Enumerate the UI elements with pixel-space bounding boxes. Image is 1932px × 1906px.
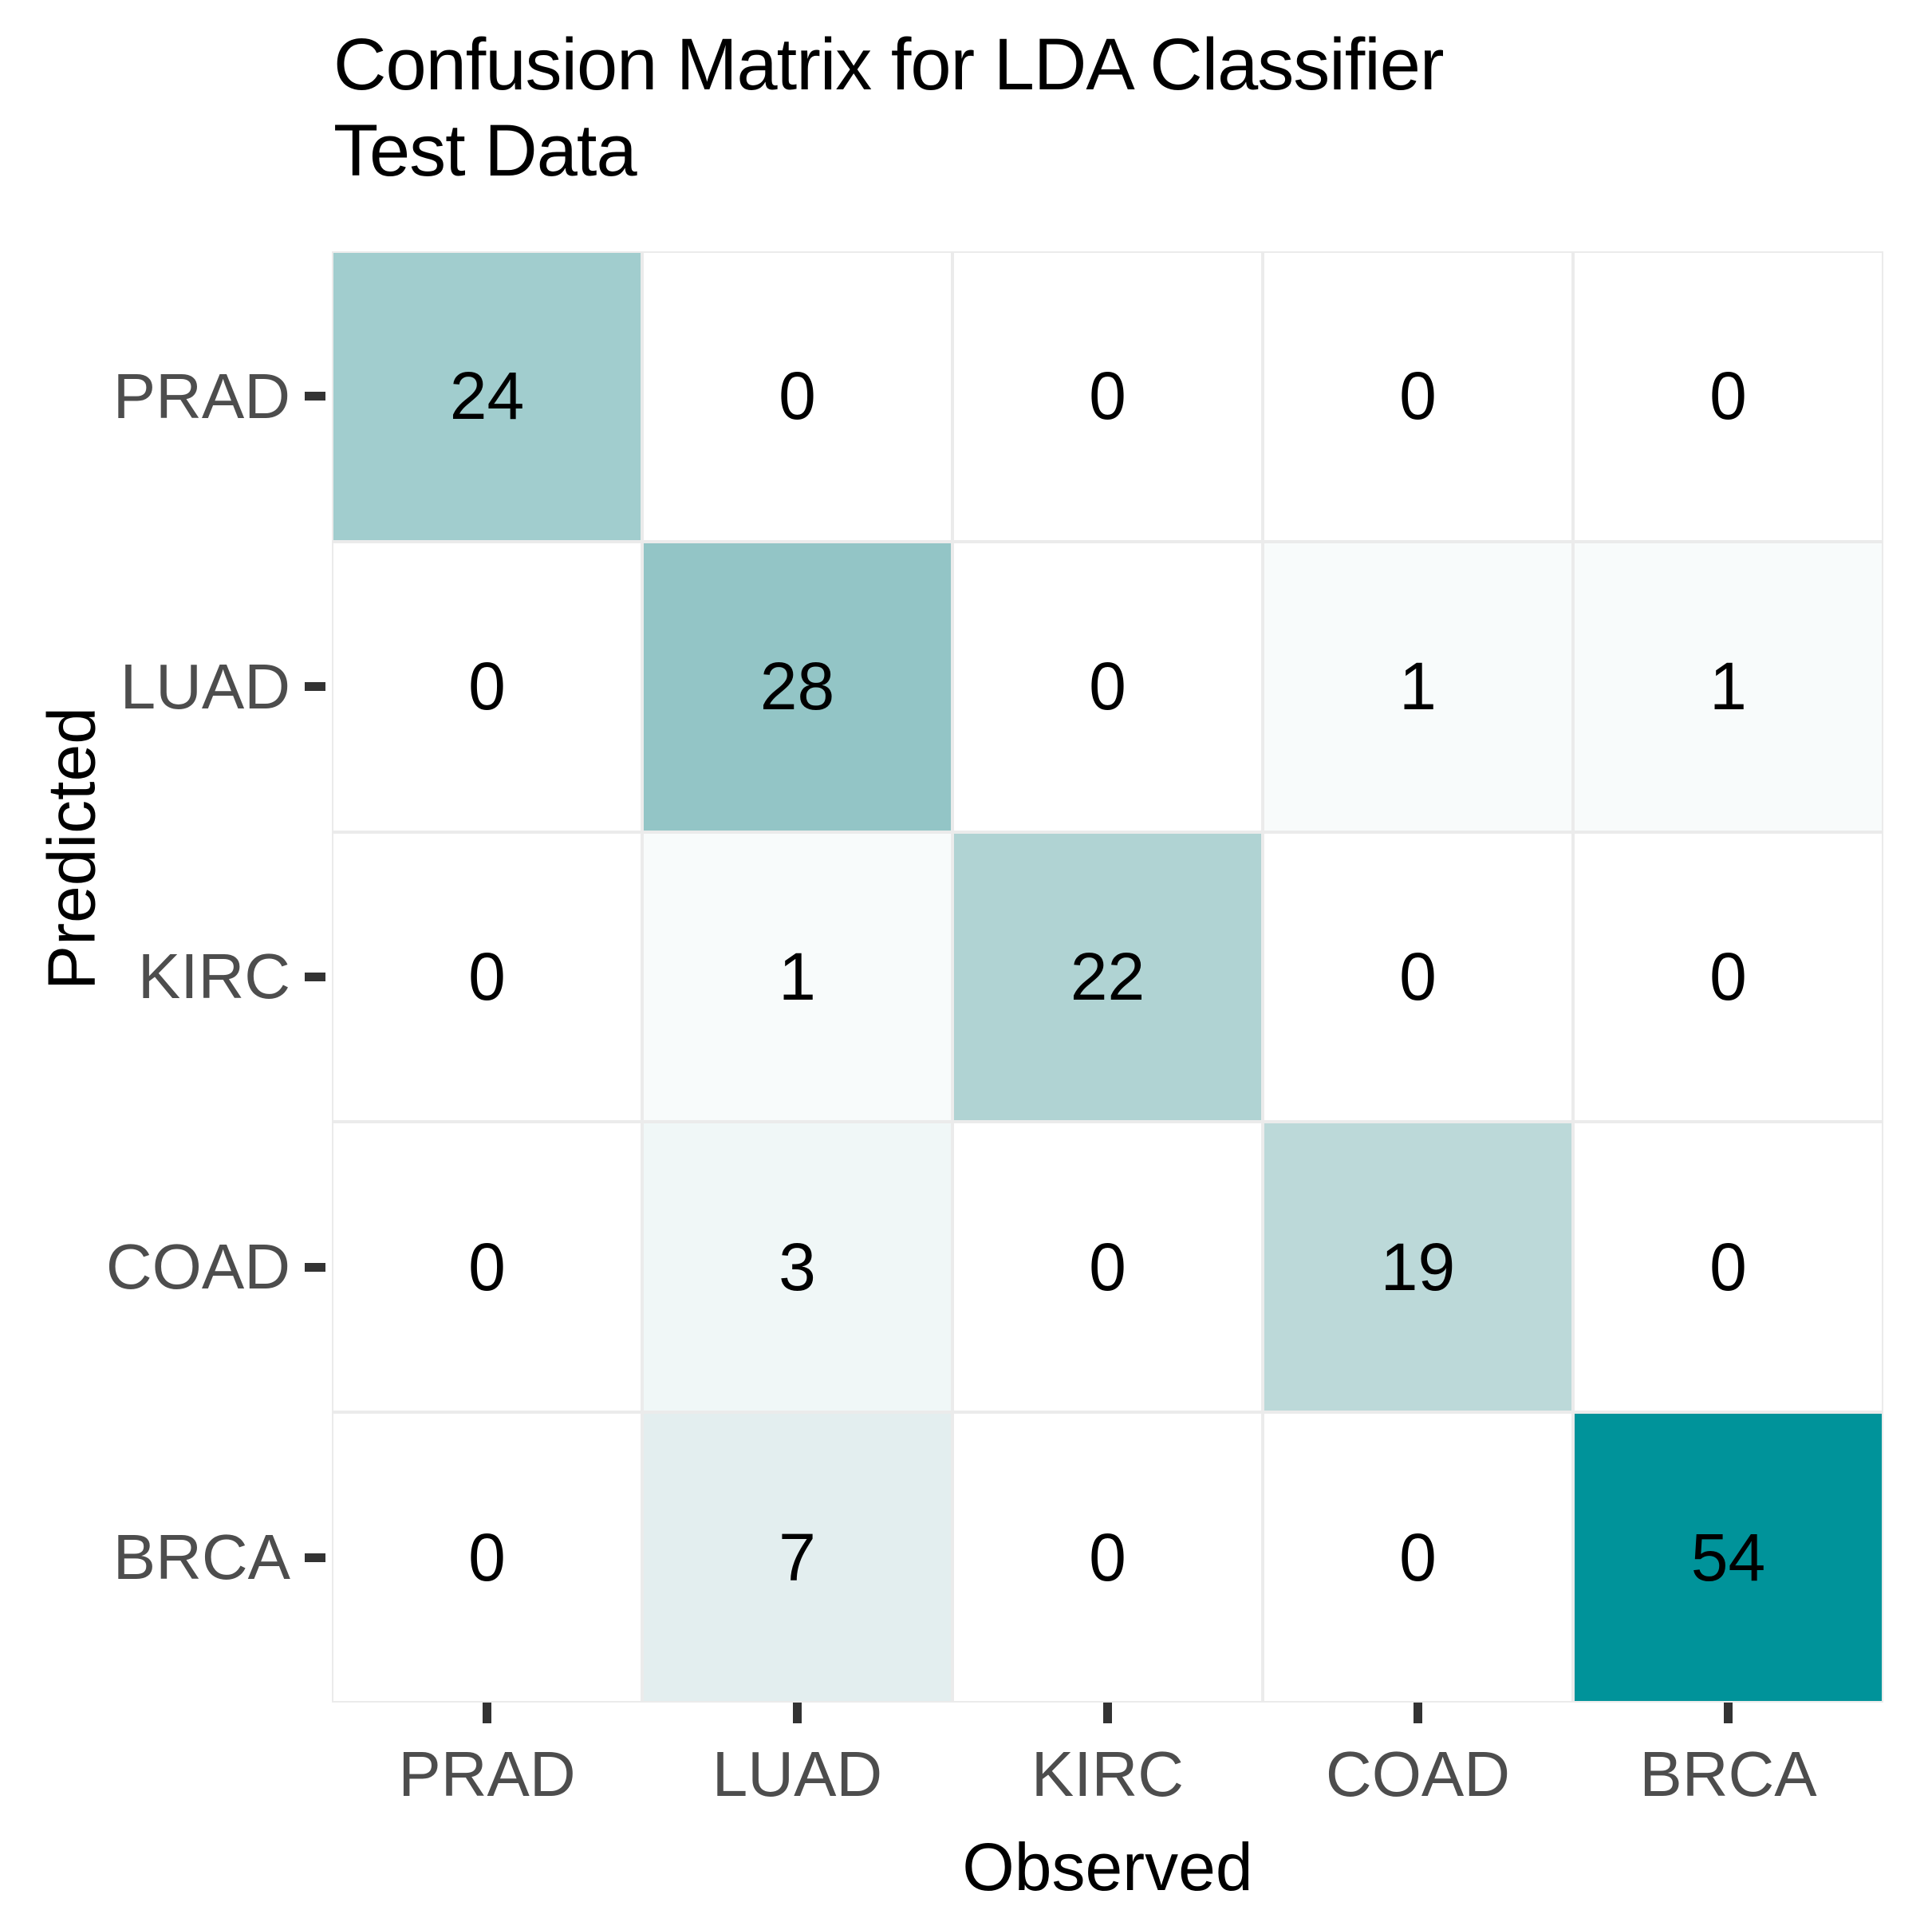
matrix-cell-value: 1 xyxy=(1399,648,1437,725)
matrix-cell-value: 0 xyxy=(1709,357,1747,435)
matrix-cell: 0 xyxy=(1573,832,1883,1123)
matrix-cell: 0 xyxy=(1263,251,1573,542)
matrix-cell: 0 xyxy=(332,832,642,1123)
matrix-cell: 0 xyxy=(952,1412,1263,1703)
y-axis-tick-label: KIRC xyxy=(138,940,290,1013)
confusion-matrix-plot: Confusion Matrix for LDA Classifier Test… xyxy=(0,0,1932,1901)
x-axis-tick-mark xyxy=(1103,1703,1112,1723)
matrix-cell-value: 0 xyxy=(1399,357,1437,435)
y-axis-tick-label: COAD xyxy=(106,1230,290,1304)
x-axis-tick-mark xyxy=(1724,1703,1733,1723)
matrix-cell: 3 xyxy=(642,1122,952,1412)
matrix-cell: 0 xyxy=(952,251,1263,542)
x-axis-tick-brca: BRCA xyxy=(1573,1703,1883,1811)
matrix-cell: 54 xyxy=(1573,1412,1883,1703)
x-axis-tick-label: KIRC xyxy=(1031,1738,1184,1811)
x-axis-title: Observed xyxy=(332,1829,1883,1906)
matrix-cell-value: 24 xyxy=(450,357,524,435)
y-axis-tick-mark xyxy=(305,1553,325,1562)
matrix-cell: 0 xyxy=(1263,1412,1573,1703)
y-axis-tick-label: PRAD xyxy=(113,360,290,433)
matrix-cell-value: 0 xyxy=(1399,938,1437,1016)
y-axis-tick-brca: BRCA xyxy=(0,1412,332,1703)
x-axis-tick-mark xyxy=(1414,1703,1422,1723)
x-axis-tick-label: COAD xyxy=(1326,1738,1510,1811)
chart-title: Confusion Matrix for LDA Classifier Test… xyxy=(333,22,1849,194)
matrix-cell: 19 xyxy=(1263,1122,1573,1412)
x-axis-tick-mark xyxy=(793,1703,802,1723)
matrix-cell: 0 xyxy=(332,1412,642,1703)
matrix-cell-value: 0 xyxy=(1709,1229,1747,1306)
matrix-cell-value: 0 xyxy=(1089,1229,1126,1306)
matrix-cell: 1 xyxy=(1263,542,1573,832)
x-axis-tick-label: LUAD xyxy=(712,1738,882,1811)
matrix-cell-value: 0 xyxy=(1089,1519,1126,1596)
y-axis-tick-mark xyxy=(305,1263,325,1272)
y-axis-tick-label: BRCA xyxy=(113,1521,290,1594)
matrix-cell-value: 0 xyxy=(1709,938,1747,1016)
x-axis-tick-label: PRAD xyxy=(398,1738,575,1811)
y-axis-tick-prad: PRAD xyxy=(0,251,332,542)
y-axis-tick-kirc: KIRC xyxy=(0,832,332,1123)
matrix-cell: 28 xyxy=(642,542,952,832)
x-axis-tick-kirc: KIRC xyxy=(952,1703,1263,1811)
x-axis-tick-label: BRCA xyxy=(1639,1738,1816,1811)
matrix-cell: 1 xyxy=(642,832,952,1123)
matrix-cell: 24 xyxy=(332,251,642,542)
matrix-cell-value: 0 xyxy=(779,357,816,435)
x-axis-tick-mark xyxy=(483,1703,491,1723)
matrix-cell: 0 xyxy=(952,542,1263,832)
matrix-cell: 22 xyxy=(952,832,1263,1123)
x-axis-tick-coad: COAD xyxy=(1263,1703,1573,1811)
y-axis-tick-coad: COAD xyxy=(0,1122,332,1412)
y-axis-tick-mark xyxy=(305,973,325,981)
matrix-cell: 7 xyxy=(642,1412,952,1703)
matrix-cell: 1 xyxy=(1573,542,1883,832)
matrix-cell-value: 19 xyxy=(1381,1229,1455,1306)
matrix-cell-value: 1 xyxy=(1709,648,1747,725)
matrix-cell-value: 1 xyxy=(779,938,816,1016)
matrix-cell-value: 3 xyxy=(779,1229,816,1306)
matrix-cell-value: 0 xyxy=(1089,357,1126,435)
x-axis-tick-prad: PRAD xyxy=(332,1703,642,1811)
matrix-cell-value: 0 xyxy=(1089,648,1126,725)
matrix-cell: 0 xyxy=(332,542,642,832)
matrix-cell: 0 xyxy=(952,1122,1263,1412)
matrix-cell-value: 28 xyxy=(760,648,834,725)
matrix-cell: 0 xyxy=(642,251,952,542)
matrix-cell-value: 0 xyxy=(468,938,506,1016)
matrix-cell-value: 0 xyxy=(468,1229,506,1306)
matrix-cell-value: 0 xyxy=(468,648,506,725)
y-axis-tick-label: LUAD xyxy=(120,650,290,724)
matrix-cell: 0 xyxy=(332,1122,642,1412)
matrix-cell-value: 0 xyxy=(468,1519,506,1596)
matrix-cell-value: 7 xyxy=(779,1519,816,1596)
heatmap-tile-grid: 240000028011012200030190070054 xyxy=(332,251,1883,1703)
matrix-cell-value: 22 xyxy=(1070,938,1145,1016)
matrix-cell-value: 54 xyxy=(1691,1519,1765,1596)
y-axis-tick-luad: LUAD xyxy=(0,542,332,832)
matrix-cell: 0 xyxy=(1573,251,1883,542)
plot-panel: 240000028011012200030190070054 xyxy=(332,251,1883,1703)
matrix-cell: 0 xyxy=(1573,1122,1883,1412)
x-axis-tick-luad: LUAD xyxy=(642,1703,952,1811)
y-axis-tick-mark xyxy=(305,682,325,691)
y-axis-tick-mark xyxy=(305,392,325,401)
matrix-cell: 0 xyxy=(1263,832,1573,1123)
matrix-cell-value: 0 xyxy=(1399,1519,1437,1596)
